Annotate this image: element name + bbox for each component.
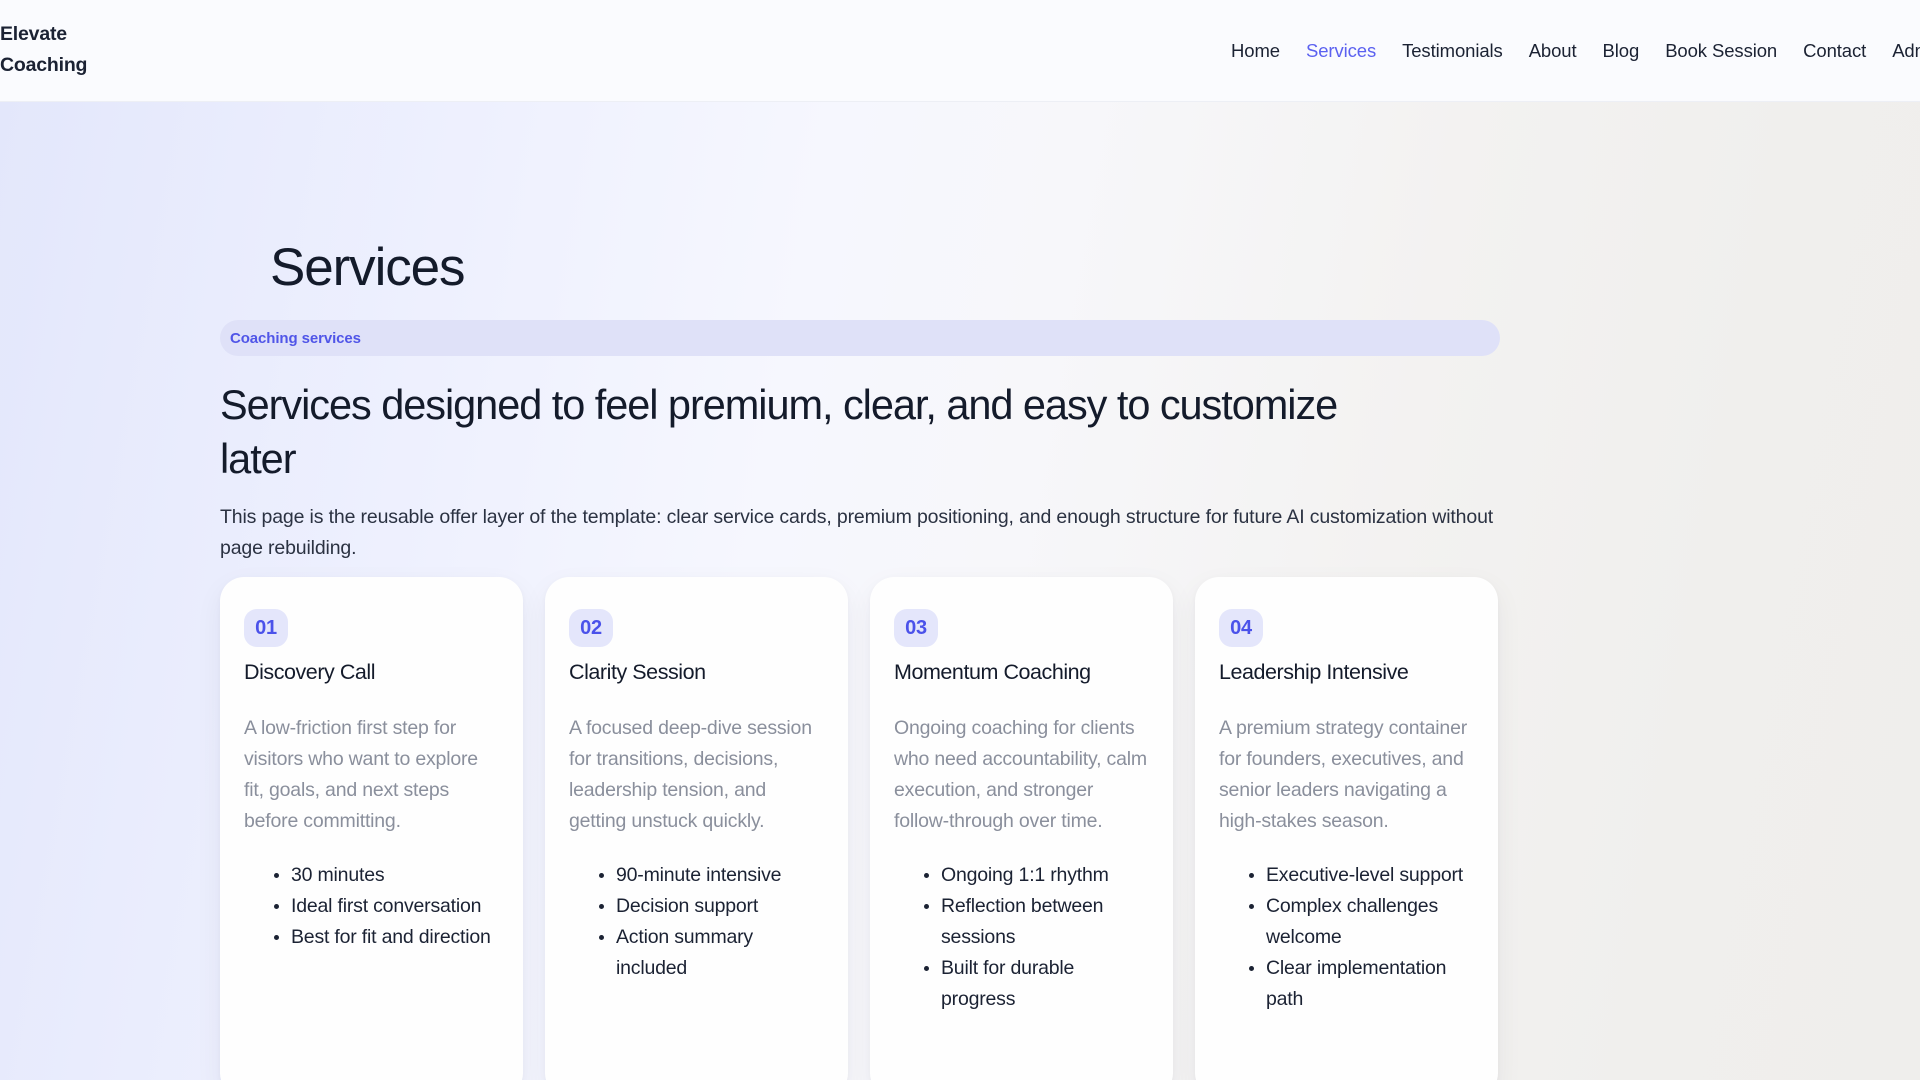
service-card-number: 03: [894, 609, 938, 647]
nav-item-blog[interactable]: Blog: [1590, 0, 1653, 102]
list-item: Action summary included: [616, 922, 824, 984]
list-item: Ongoing 1:1 rhythm: [941, 860, 1149, 891]
list-item: Best for fit and direction: [291, 922, 499, 953]
service-card-bullets: Executive-level support Complex challeng…: [1219, 860, 1474, 1015]
service-card-description: A premium strategy container for founder…: [1219, 713, 1474, 837]
list-item: 30 minutes: [291, 860, 499, 891]
nav-item-about[interactable]: About: [1516, 0, 1590, 102]
site-header: Elevate Coaching Home Services Testimoni…: [0, 0, 1920, 102]
service-card[interactable]: 02 Clarity Session A focused deep-dive s…: [545, 577, 848, 1080]
eyebrow-badge: Coaching services: [220, 320, 1500, 356]
page-content: Services Coaching services Services desi…: [0, 102, 1920, 1080]
service-card-title: Clarity Session: [569, 657, 824, 687]
service-card[interactable]: 03 Momentum Coaching Ongoing coaching fo…: [870, 577, 1173, 1080]
page-title: Services: [270, 239, 464, 297]
brand-logo[interactable]: Elevate Coaching: [0, 19, 140, 81]
list-item: Clear implementation path: [1266, 953, 1474, 1015]
service-card-number: 01: [244, 609, 288, 647]
hero-subcopy: This page is the reusable offer layer of…: [220, 502, 1500, 563]
service-card-grid: 01 Discovery Call A low-friction first s…: [220, 577, 1500, 1080]
service-card-description: A low-friction first step for visitors w…: [244, 713, 499, 837]
service-card-bullets: Ongoing 1:1 rhythm Reflection between se…: [894, 860, 1149, 1015]
service-card-title: Discovery Call: [244, 657, 499, 687]
list-item: Ideal first conversation: [291, 891, 499, 922]
service-card-title: Leadership Intensive: [1219, 657, 1474, 687]
nav-item-book-session[interactable]: Book Session: [1652, 0, 1790, 102]
nav-item-testimonials[interactable]: Testimonials: [1389, 0, 1516, 102]
hero-headline: Services designed to feel premium, clear…: [220, 378, 1340, 486]
service-card[interactable]: 01 Discovery Call A low-friction first s…: [220, 577, 523, 1080]
service-card[interactable]: 04 Leadership Intensive A premium strate…: [1195, 577, 1498, 1080]
service-card-description: A focused deep-dive session for transiti…: [569, 713, 824, 837]
service-card-bullets: 30 minutes Ideal first conversation Best…: [244, 860, 499, 953]
service-card-title: Momentum Coaching: [894, 657, 1149, 687]
nav-item-services[interactable]: Services: [1293, 0, 1389, 102]
service-card-number: 02: [569, 609, 613, 647]
service-card-description: Ongoing coaching for clients who need ac…: [894, 713, 1149, 837]
list-item: Complex challenges welcome: [1266, 891, 1474, 953]
nav-item-admin[interactable]: Admin: [1879, 0, 1920, 102]
service-card-bullets: 90-minute intensive Decision support Act…: [569, 860, 824, 984]
list-item: 90-minute intensive: [616, 860, 824, 891]
eyebrow-badge-label: Coaching services: [220, 330, 361, 347]
nav-item-contact[interactable]: Contact: [1790, 0, 1879, 102]
nav-item-home[interactable]: Home: [1218, 0, 1293, 102]
service-card-number: 04: [1219, 609, 1263, 647]
list-item: Executive-level support: [1266, 860, 1474, 891]
list-item: Decision support: [616, 891, 824, 922]
main-navigation: Home Services Testimonials About Blog Bo…: [1218, 0, 1920, 102]
list-item: Built for durable progress: [941, 953, 1149, 1015]
list-item: Reflection between sessions: [941, 891, 1149, 953]
page-root: Elevate Coaching Home Services Testimoni…: [0, 0, 1920, 1080]
